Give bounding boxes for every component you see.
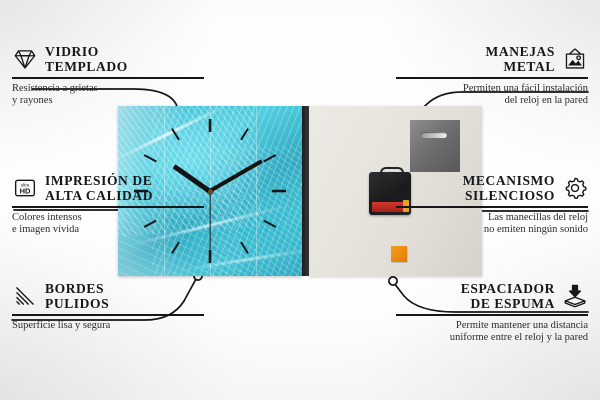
clock-tick bbox=[264, 221, 276, 228]
feature-title: IMPRESIÓN DE ALTA CALIDAD bbox=[45, 173, 153, 203]
feature-bordes-pulidos: BORDES PULIDOS Superficie lisa y segura bbox=[12, 281, 208, 332]
clock-tick bbox=[172, 242, 179, 253]
feature-subtitle: Colores intensos e imagen vívida bbox=[12, 212, 208, 237]
feature-rule bbox=[12, 77, 204, 79]
feature-title: BORDES PULIDOS bbox=[45, 281, 109, 311]
clock-tick bbox=[241, 129, 248, 140]
feature-subtitle: Superficie lisa y segura bbox=[12, 320, 208, 333]
diamond-icon bbox=[12, 46, 38, 72]
foam-spacer-icon bbox=[562, 283, 588, 309]
gear-icon bbox=[562, 175, 588, 201]
feature-title: ESPACIADOR DE ESPUMA bbox=[392, 281, 555, 311]
feature-rule bbox=[396, 206, 588, 208]
picture-hanger-icon bbox=[562, 46, 588, 72]
foam-spacer bbox=[391, 246, 407, 262]
infographic-canvas: VIDRIO TEMPLADO Resistencia a grietas y … bbox=[0, 0, 600, 400]
feature-header: ESPACIADOR DE ESPUMA bbox=[392, 281, 588, 311]
feature-espaciador-espuma: ESPACIADOR DE ESPUMA Permite mantener un… bbox=[392, 281, 588, 345]
feature-manejas-metal: MANEJAS METAL Permiten una fácil instala… bbox=[392, 44, 588, 108]
clock-center-hub bbox=[208, 189, 213, 194]
feature-impresion-alta-calidad: ultra HD IMPRESIÓN DE ALTA CALIDAD Color… bbox=[12, 173, 208, 237]
clock-tick bbox=[241, 242, 248, 253]
clock-tick bbox=[264, 155, 276, 162]
metal-hanger bbox=[410, 120, 460, 172]
feature-title: VIDRIO TEMPLADO bbox=[45, 44, 128, 74]
feature-vidrio-templado: VIDRIO TEMPLADO Resistencia a grietas y … bbox=[12, 44, 208, 108]
feature-mecanismo-silencioso: MECANISMO SILENCIOSO Las manecillas del … bbox=[392, 173, 588, 237]
polished-edge-icon bbox=[12, 283, 38, 309]
feature-rule bbox=[12, 206, 204, 208]
hanger-slot bbox=[421, 132, 447, 138]
feature-title: MANEJAS METAL bbox=[392, 44, 555, 74]
clock-second-hand bbox=[209, 191, 210, 257]
feature-subtitle: Las manecillas del reloj no emiten ningú… bbox=[392, 212, 588, 237]
feature-header: MECANISMO SILENCIOSO bbox=[392, 173, 588, 203]
feature-header: MANEJAS METAL bbox=[392, 44, 588, 74]
feature-rule bbox=[396, 77, 588, 79]
feature-header: BORDES PULIDOS bbox=[12, 281, 208, 311]
feature-header: ultra HD IMPRESIÓN DE ALTA CALIDAD bbox=[12, 173, 208, 203]
ultra-hd-icon: ultra HD bbox=[12, 175, 38, 201]
feature-rule bbox=[396, 314, 588, 316]
clock-tick bbox=[144, 155, 156, 162]
clock-edge-side bbox=[302, 106, 309, 276]
clock-tick bbox=[172, 129, 179, 140]
feature-subtitle: Resistencia a grietas y rayones bbox=[12, 83, 208, 108]
feature-title: MECANISMO SILENCIOSO bbox=[392, 173, 555, 203]
ultra-hd-icon-hd-label: HD bbox=[20, 186, 31, 195]
feature-subtitle: Permiten una fácil instalación del reloj… bbox=[392, 83, 588, 108]
feature-rule bbox=[12, 314, 204, 316]
feature-subtitle: Permite mantener una distancia uniforme … bbox=[392, 320, 588, 345]
feature-header: VIDRIO TEMPLADO bbox=[12, 44, 208, 74]
